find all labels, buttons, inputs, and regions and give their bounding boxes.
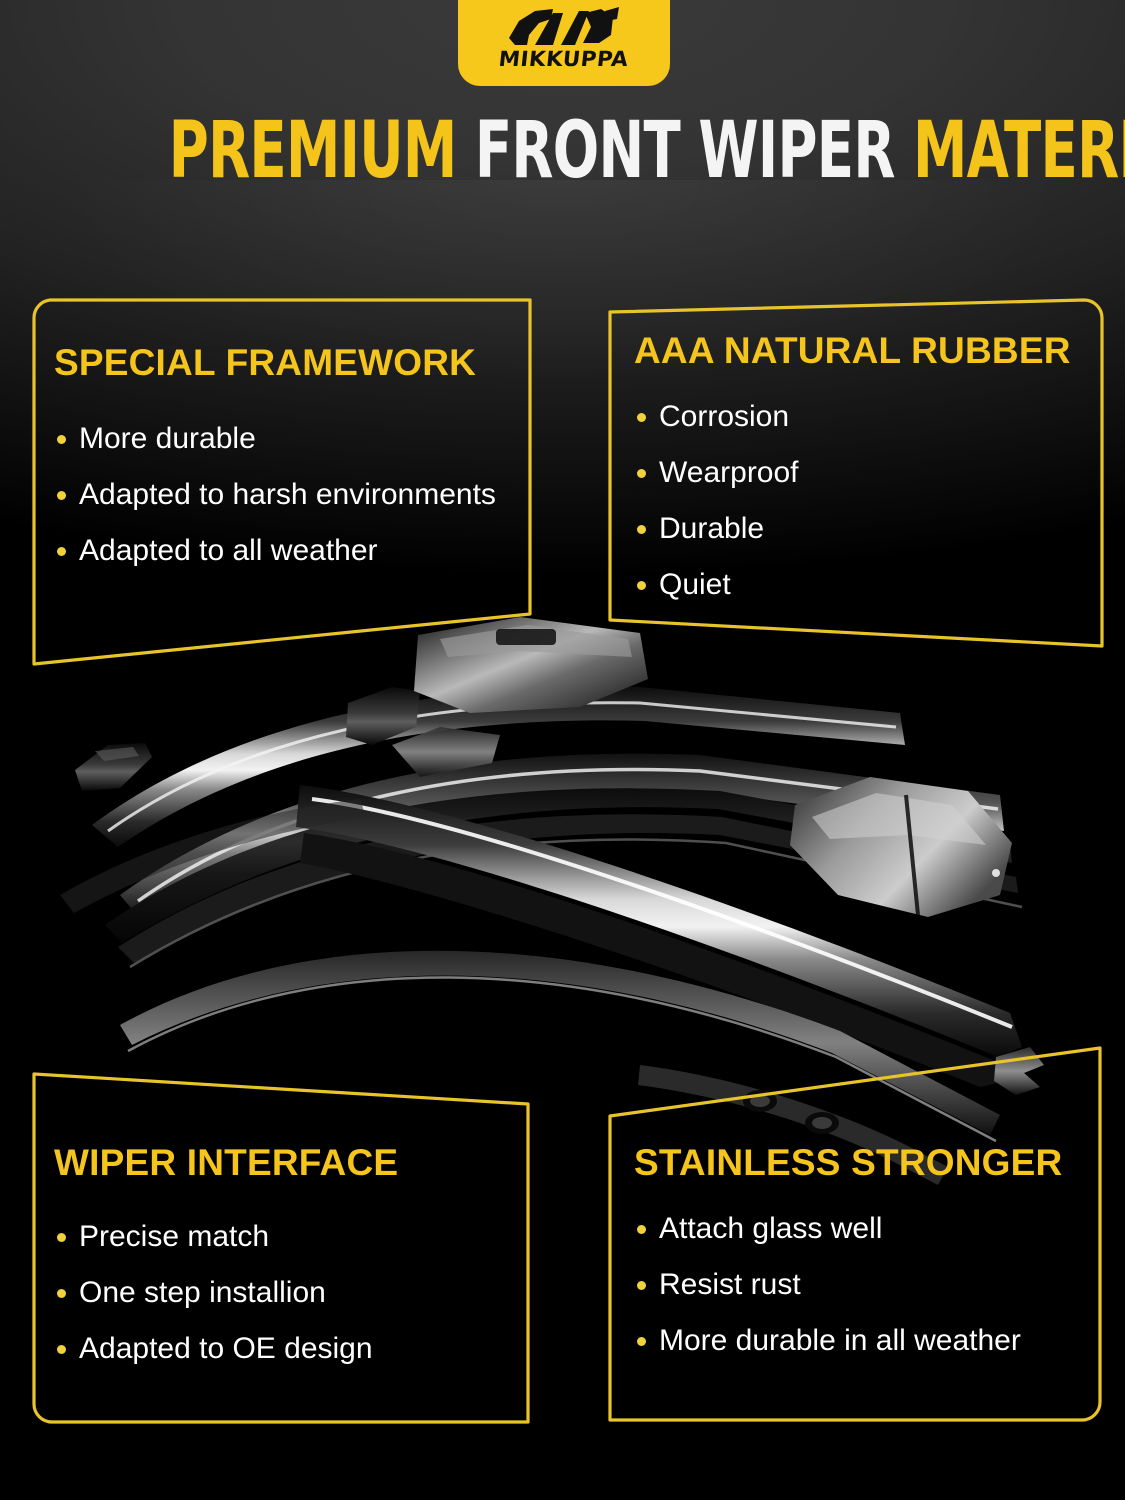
panel-title: SPECIAL FRAMEWORK	[54, 342, 496, 384]
list-item-label: Adapted to all weather	[79, 534, 378, 567]
list-item: More durable	[54, 424, 496, 454]
bullet-dot-icon	[57, 547, 66, 556]
list-item-label: One step installion	[79, 1276, 326, 1309]
bullet-dot-icon	[637, 469, 646, 478]
panel-bullet-list: Corrosion Wearproof Durable Quiet	[634, 402, 1071, 600]
list-item: Adapted to harsh environments	[54, 480, 496, 510]
mikkuppa-swoosh-logo-icon	[505, 5, 623, 49]
list-item: Corrosion	[634, 402, 1071, 432]
list-item-label: More durable	[79, 422, 256, 455]
list-item-label: Adapted to OE design	[79, 1332, 373, 1365]
brand-logo-badge: MIKKUPPA	[458, 0, 670, 86]
panel-bullet-list: Attach glass well Resist rust More durab…	[634, 1214, 1062, 1356]
list-item: Resist rust	[634, 1270, 1062, 1300]
panel-title: STAINLESS STRONGER	[634, 1142, 1062, 1184]
panel-stainless-stronger: STAINLESS STRONGER Attach glass well Res…	[608, 1046, 1104, 1424]
list-item: Adapted to all weather	[54, 536, 496, 566]
list-item: Precise match	[54, 1222, 398, 1252]
bullet-dot-icon	[57, 491, 66, 500]
panel-title: WIPER INTERFACE	[54, 1142, 398, 1184]
list-item-label: Quiet	[659, 568, 731, 601]
end-cap	[75, 743, 152, 791]
list-item: More durable in all weather	[634, 1326, 1062, 1356]
list-item: Attach glass well	[634, 1214, 1062, 1244]
bullet-dot-icon	[637, 1337, 646, 1346]
page-title-part3: MATERIALS	[913, 106, 1125, 196]
bullet-dot-icon	[57, 1233, 66, 1242]
list-item: One step installion	[54, 1278, 398, 1308]
bullet-dot-icon	[57, 1289, 66, 1298]
list-item-label: Wearproof	[659, 456, 799, 489]
panel-bullet-list: More durable Adapted to harsh environmen…	[54, 424, 496, 566]
bullet-dot-icon	[637, 581, 646, 590]
panel-special-framework: SPECIAL FRAMEWORK More durable Adapted t…	[32, 298, 532, 668]
bullet-dot-icon	[57, 435, 66, 444]
list-item-label: Precise match	[79, 1220, 269, 1253]
list-item-label: Resist rust	[659, 1268, 801, 1301]
infographic-canvas: MIKKUPPA PREMIUM FRONT WIPER MATERIALS S…	[0, 0, 1125, 1500]
bullet-dot-icon	[57, 1345, 66, 1354]
list-item: Adapted to OE design	[54, 1334, 398, 1364]
panel-aaa-natural-rubber: AAA NATURAL RUBBER Corrosion Wearproof D…	[608, 298, 1104, 658]
bullet-dot-icon	[637, 1281, 646, 1290]
panel-wiper-interface: WIPER INTERFACE Precise match One step i…	[32, 1052, 532, 1424]
list-item: Wearproof	[634, 458, 1071, 488]
page-title: PREMIUM FRONT WIPER MATERIALS	[169, 112, 957, 190]
brand-wordmark: MIKKUPPA	[498, 47, 630, 71]
list-item: Quiet	[634, 570, 1071, 600]
list-item-label: More durable in all weather	[659, 1324, 1021, 1357]
page-title-part2: FRONT WIPER	[475, 106, 913, 196]
panel-title: AAA NATURAL RUBBER	[634, 330, 1071, 372]
bullet-dot-icon	[637, 413, 646, 422]
panel-bullet-list: Precise match One step installion Adapte…	[54, 1222, 398, 1364]
bullet-dot-icon	[637, 525, 646, 534]
list-item-label: Corrosion	[659, 400, 789, 433]
bullet-dot-icon	[637, 1225, 646, 1234]
page-title-part1: PREMIUM	[169, 106, 475, 196]
list-item: Durable	[634, 514, 1071, 544]
list-item-label: Durable	[659, 512, 764, 545]
list-item-label: Adapted to harsh environments	[79, 478, 496, 511]
list-item-label: Attach glass well	[659, 1212, 882, 1245]
